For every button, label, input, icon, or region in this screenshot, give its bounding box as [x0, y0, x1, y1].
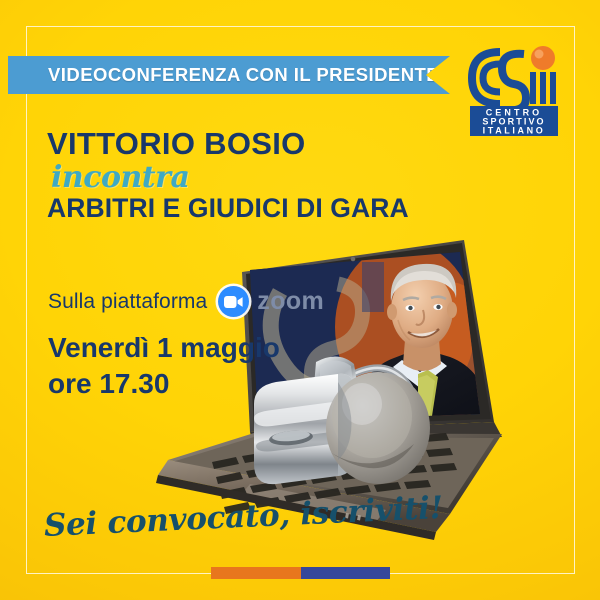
event-time: ore 17.30 — [48, 366, 280, 402]
event-date: Venerdì 1 maggio — [48, 330, 280, 366]
platform-label: Sulla piattaforma — [48, 290, 207, 314]
accent-bar-blue — [301, 567, 390, 579]
president-name: VITTORIO BOSIO — [47, 128, 409, 161]
videoconference-ribbon: VIDEOCONFERENZA CON IL PRESIDENTE — [8, 56, 450, 94]
accent-bar-orange — [211, 567, 301, 579]
csi-logo: CENTRO SPORTIVO ITALIANO — [464, 36, 562, 140]
zoom-wordmark: zoom — [257, 287, 324, 316]
svg-text:ITALIANO: ITALIANO — [483, 126, 546, 136]
zoom-logo: zoom — [218, 286, 324, 317]
headline-block: VITTORIO BOSIO incontra ARBITRI E GIUDIC… — [47, 128, 409, 222]
poster-canvas: VIDEOCONFERENZA CON IL PRESIDENTE CENTR — [0, 0, 600, 600]
csi-logo-wordmark: CENTRO SPORTIVO ITALIANO — [470, 106, 558, 136]
ribbon-label: VIDEOCONFERENZA CON IL PRESIDENTE — [48, 64, 439, 86]
headline-connector: incontra — [51, 163, 409, 193]
platform-line: Sulla piattaforma zoom — [48, 286, 324, 317]
video-camera-icon — [218, 286, 249, 317]
event-datetime: Venerdì 1 maggio ore 17.30 — [48, 330, 280, 402]
csi-monogram-icon — [472, 46, 556, 110]
headline-audience: ARBITRI E GIUDICI DI GARA — [47, 195, 409, 223]
